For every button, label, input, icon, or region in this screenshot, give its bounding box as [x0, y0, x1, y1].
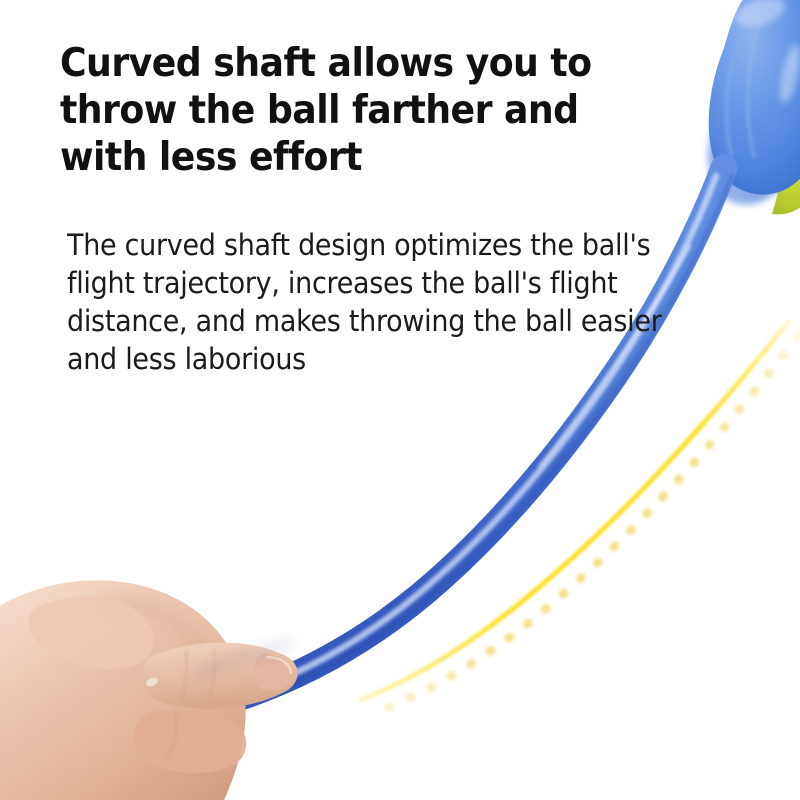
product-feature-image: Curved shaft allows you to throw the bal…: [0, 0, 800, 800]
product-illustration: [0, 0, 800, 800]
